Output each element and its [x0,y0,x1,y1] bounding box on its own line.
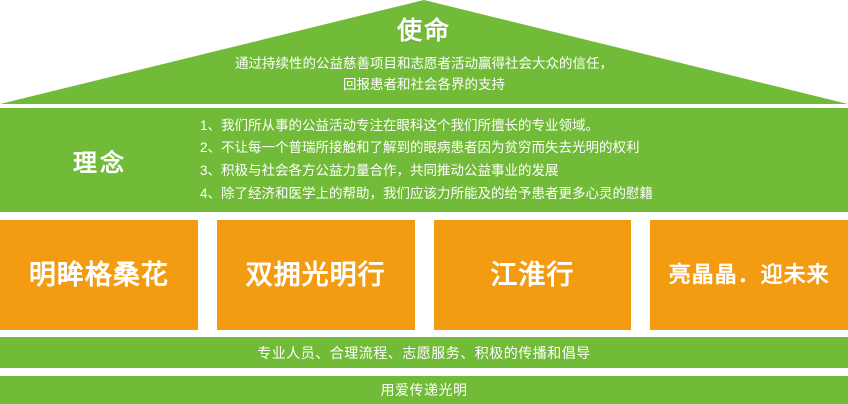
mission-description: 通过持续性的公益慈善项目和志愿者活动赢得社会大众的信任， 回报患者和社会各界的支… [144,54,704,96]
house-framework-diagram: 使命 通过持续性的公益慈善项目和志愿者活动赢得社会大众的信任， 回报患者和社会各… [0,0,848,404]
pillar-program-1[interactable]: 明眸格桑花 [0,220,198,330]
foundation-bar-slogan: 用爱传递光明 [0,376,848,404]
pillar-label: 亮晶晶．迎未来 [665,264,834,286]
philosophy-label: 理念 [0,143,200,178]
pillar-program-2[interactable]: 双拥光明行 [217,220,415,330]
pillar-label: 双拥光明行 [242,262,390,289]
pillar-program-4[interactable]: 亮晶晶．迎未来 [650,220,848,330]
philosophy-section: 理念 1、我们所从事的公益活动专注在眼科这个我们所擅长的专业领域。 2、不让每一… [0,108,848,212]
mission-description-line-2: 回报患者和社会各界的支持 [144,75,704,96]
pillars-row: 明眸格桑花 双拥光明行 江淮行 亮晶晶．迎未来 [0,220,848,330]
foundation-bar-methods-text: 专业人员、合理流程、志愿服务、积极的传播和倡导 [257,343,591,363]
philosophy-item: 3、积极与社会各方公益力量合作，共同推动公益事业的发展 [200,160,834,183]
pillar-program-3[interactable]: 江淮行 [434,220,632,330]
mission-description-line-1: 通过持续性的公益慈善项目和志愿者活动赢得社会大众的信任， [144,54,704,75]
foundation-bar-methods: 专业人员、合理流程、志愿服务、积极的传播和倡导 [0,337,848,368]
philosophy-item: 4、除了经济和医学上的帮助，我们应该力所能及的给予患者更多心灵的慰籍 [200,183,834,206]
mission-section: 使命 通过持续性的公益慈善项目和志愿者活动赢得社会大众的信任， 回报患者和社会各… [0,0,848,104]
mission-title: 使命 [397,18,451,44]
philosophy-list: 1、我们所从事的公益活动专注在眼科这个我们所擅长的专业领域。 2、不让每一个普瑞… [200,115,848,206]
pillar-label: 江淮行 [486,262,578,289]
foundation-bar-slogan-text: 用爱传递光明 [381,380,468,400]
pillar-label: 明眸格桑花 [25,262,173,289]
philosophy-item: 2、不让每一个普瑞所接触和了解到的眼病患者因为贫穷而失去光明的权利 [200,137,834,160]
philosophy-item: 1、我们所从事的公益活动专注在眼科这个我们所擅长的专业领域。 [200,115,834,138]
